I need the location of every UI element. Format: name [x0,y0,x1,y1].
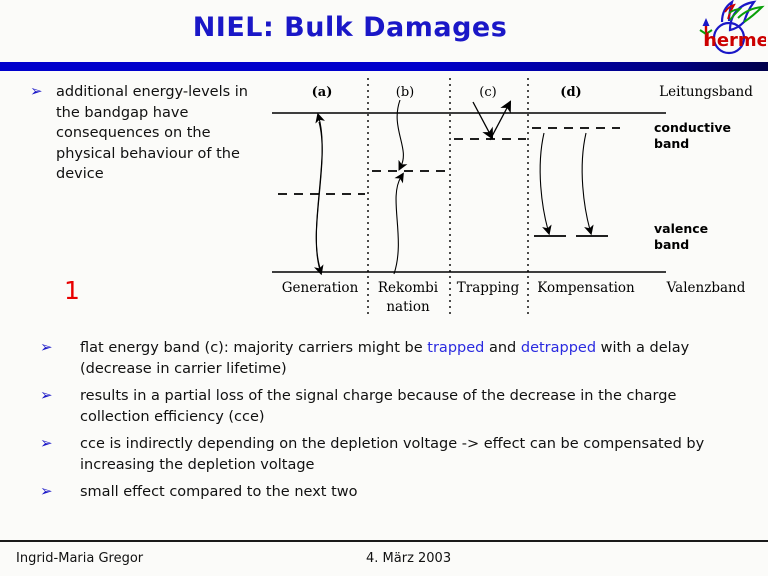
annotation-conductive-band-2: band [654,136,689,151]
panel-label-b: (b) [396,85,414,100]
band-label-valenzband: Valenzband [666,280,746,296]
caption-kompensation: Kompensation [537,280,635,296]
bullet-arrow-icon: ➢ [30,82,56,101]
bullet-item: ➢flat energy band (c): majority carriers… [30,338,742,379]
band-diagram-graphic: (a) (b) (c) (d) Leitungsband Valenzband … [268,78,768,318]
annotation-valence-band-2: band [654,237,689,252]
bullet-label: small effect compared to the next two [80,482,735,503]
bullet-text-segment: flat energy band (c): majority carriers … [80,340,427,356]
hermes-logo: hermes [682,0,766,62]
bullet-label: results in a partial loss of the signal … [80,386,735,427]
caption-rekombination-2: nation [386,299,430,315]
bullet-label: cce is indirectly depending on the deple… [80,434,735,475]
bullet-item: ➢small effect compared to the next two [30,482,742,503]
footer: Ingrid-Maria Gregor 4. März 2003 [0,548,768,576]
footer-divider [0,540,768,542]
panel-label-a: (a) [312,85,333,100]
caption-trapping: Trapping [457,280,520,296]
compensation-arrow-2 [582,133,590,230]
hermes-wordmark: hermes [704,30,766,51]
title-divider [0,62,768,71]
bullet-text-segment: cce is indirectly depending on the deple… [80,436,704,473]
panel-label-d: (d) [560,85,581,100]
bullet-label: additional energy-levels in the bandgap … [56,82,261,185]
recombination-arrow-up-bottom [394,177,401,274]
hermes-logo-graphic: hermes [682,0,766,62]
bullet-item: ➢ additional energy-levels in the bandga… [30,82,275,185]
footer-author: Ingrid-Maria Gregor [16,551,143,566]
bullet-arrow-icon: ➢ [30,482,80,501]
bullet-text-segment: results in a partial loss of the signal … [80,388,676,425]
bullet-arrow-icon: ➢ [30,434,80,453]
highlighted-term: trapped [427,340,484,356]
bullet-item: ➢cce is indirectly depending on the depl… [30,434,742,475]
bullet-arrow-icon: ➢ [30,386,80,405]
lead-bullet-block: ➢ additional energy-levels in the bandga… [30,82,275,185]
band-diagram: (a) (b) (c) (d) Leitungsband Valenzband … [268,78,768,318]
bullet-text-segment: small effect compared to the next two [80,484,357,500]
lower-bullet-list: ➢flat energy band (c): majority carriers… [30,338,742,510]
bullet-text-segment: and [484,340,521,356]
bullet-item: ➢results in a partial loss of the signal… [30,386,742,427]
step-marker: 1 [64,278,80,303]
annotation-conductive-band-1: conductive [654,120,731,135]
footer-date: 4. März 2003 [366,551,451,566]
compensation-arrow-1 [540,133,548,230]
caption-rekombination-1: Rekombi [378,280,439,296]
band-label-leitungsband: Leitungsband [659,84,753,100]
highlighted-term: detrapped [521,340,596,356]
bullet-label: flat energy band (c): majority carriers … [80,338,735,379]
trapping-arrow-in [473,102,490,134]
detrapping-arrow-out [490,106,508,140]
page-title: NIEL: Bulk Damages [0,12,700,43]
panel-label-c: (c) [479,85,496,100]
annotation-valence-band-1: valence [654,221,708,236]
caption-generation: Generation [282,280,359,296]
recombination-arrow-down-top [397,100,403,166]
bullet-arrow-icon: ➢ [30,338,80,357]
